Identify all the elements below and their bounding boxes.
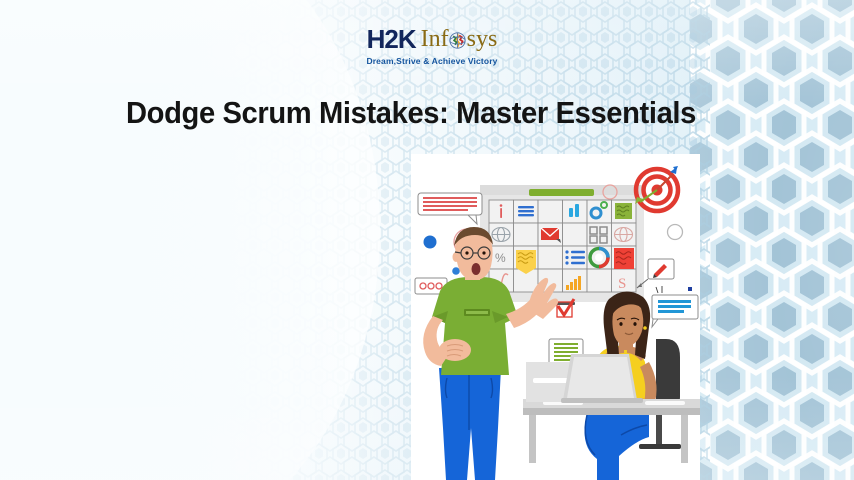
logo-tagline: Dream,Strive & Achieve Victory: [352, 56, 512, 66]
board-icon-list-lines: [518, 206, 534, 216]
svg-text:S: S: [618, 276, 626, 292]
blue-dot-small: [452, 267, 460, 275]
board-icon-dollar: S: [618, 276, 626, 292]
circle-outline-icon: [668, 225, 683, 240]
checkmark-icon: [557, 299, 574, 317]
blue-dot-large: [424, 236, 437, 249]
board-icon-red-note: [614, 248, 634, 269]
board-icon-percent: %: [495, 251, 506, 265]
logo-inf-text: Inf: [421, 27, 449, 51]
page-title: Dodge Scrum Mistakes: Master Essentials: [126, 95, 709, 131]
h2k-infosys-logo[interactable]: H2K Inf sys Dream,Strive & Achieve Victo…: [352, 26, 512, 70]
slide-canvas: H2K Inf sys Dream,Strive & Achieve Victo…: [0, 0, 854, 480]
globe-icon: [449, 32, 466, 49]
logo-wordmark: H2K Inf sys: [352, 26, 512, 52]
blue-lines-speech-bubble: [652, 286, 698, 327]
board-icon-green-note: [615, 203, 632, 219]
scrum-meeting-illustration: %: [411, 154, 700, 480]
board-icon-bullet-list: [565, 250, 585, 264]
logo-h2k-text: H2K: [367, 26, 416, 52]
target-bullseye-icon: [635, 166, 678, 211]
logo-sys-text: sys: [467, 27, 498, 51]
red-lines-speech-bubble: [418, 193, 482, 224]
svg-text:%: %: [495, 251, 506, 265]
